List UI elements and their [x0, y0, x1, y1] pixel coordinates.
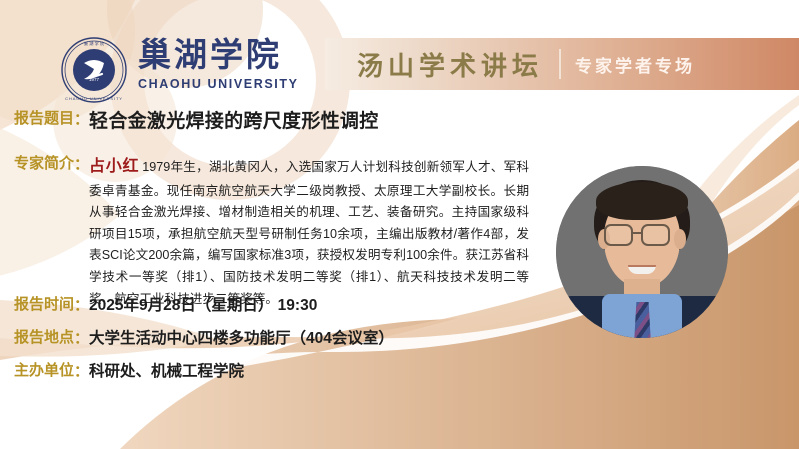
report-title-label: 报告题目: [14, 108, 74, 131]
report-time-value: 2025年9月28日（星期日） 19:30: [89, 294, 317, 317]
report-title-value: 轻合金激光焊接的跨尺度形性调控: [89, 108, 379, 137]
speaker-bio-paragraph: 1979年生，湖北黄冈人，入选国家万人计划科技创新领军人才、军科委卓青基金。现任…: [89, 160, 529, 306]
portrait-glasses-left-lens: [604, 224, 633, 246]
speaker-bio-row: 专家简介 ： 占小红1979年生，湖北黄冈人，入选国家万人计划科技创新领军人才、…: [14, 153, 559, 310]
report-title-row: 报告题目 ： 轻合金激光焊接的跨尺度形性调控: [14, 108, 379, 137]
report-place-colon: ：: [74, 327, 89, 348]
organizer-label: 主办单位: [14, 360, 74, 383]
report-time-row: 报告时间 ： 2025年9月28日（星期日） 19:30: [14, 294, 317, 317]
organizer-row: 主办单位 ： 科研处、机械工程学院: [14, 360, 244, 383]
speaker-bio-text-block: 占小红1979年生，湖北黄冈人，入选国家万人计划科技创新领军人才、军科委卓青基金…: [89, 153, 529, 310]
report-title-colon: ：: [74, 108, 89, 129]
portrait-necktie: [634, 302, 651, 338]
speaker-portrait-photo: [556, 166, 728, 338]
speaker-name: 占小红: [89, 158, 139, 175]
report-time-label: 报告时间: [14, 294, 74, 317]
report-place-value: 大学生活动中心四楼多功能厅（404会议室）: [89, 327, 394, 350]
portrait-fringe: [596, 182, 688, 220]
portrait-glasses-bridge: [633, 232, 641, 234]
report-time-colon: ：: [74, 294, 89, 315]
speaker-bio-label: 专家简介: [14, 153, 74, 176]
portrait-ear-right: [674, 229, 686, 249]
organizer-colon: ：: [74, 360, 89, 381]
seminar-poster: 1977 巢 湖 学 院 CHAOHU UNIVERSITY 巢湖学院 CHAO…: [0, 0, 799, 449]
organizer-value: 科研处、机械工程学院: [89, 360, 244, 383]
portrait-glasses-right-lens: [641, 224, 670, 246]
report-place-label: 报告地点: [14, 327, 74, 350]
report-place-row: 报告地点 ： 大学生活动中心四楼多功能厅（404会议室）: [14, 327, 394, 350]
speaker-bio-colon: ：: [74, 153, 89, 174]
